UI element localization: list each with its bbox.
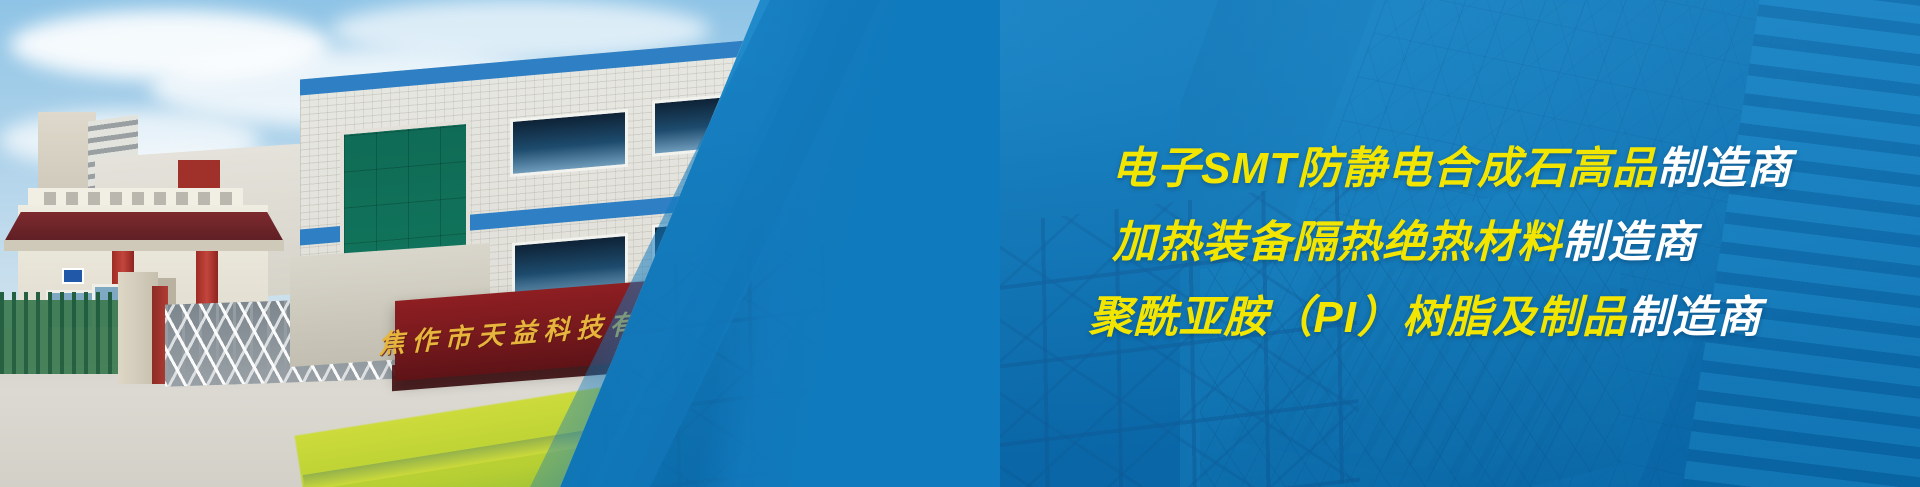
headline-line-3-suffix: 制造商 <box>1627 293 1762 342</box>
headline-group: 电子SMT防静电合成石高品制造商 加热装备隔热绝热材料制造商 聚酰亚胺（PI）树… <box>0 0 1920 487</box>
headline-line-2-highlight: 加热装备隔热绝热材料 <box>1112 218 1562 267</box>
headline-line-1-highlight: 电子SMT防静电合成石高品 <box>1111 144 1657 193</box>
headline-line-1: 电子SMT防静电合成石高品制造商 <box>1111 146 1792 192</box>
headline-line-3: 聚酰亚胺（PI）树脂及制品制造商 <box>1088 295 1762 341</box>
headline-line-1-suffix: 制造商 <box>1657 144 1792 193</box>
headline-line-2-suffix: 制造商 <box>1562 218 1697 267</box>
headline-line-3-highlight: 聚酰亚胺（PI）树脂及制品 <box>1088 293 1627 342</box>
company-hero-banner: 焦作市天益科技有限公司 电子SMT防静电合成石高品制造商 加热装备隔热绝热材料制… <box>0 0 1920 487</box>
headline-line-2: 加热装备隔热绝热材料制造商 <box>1112 220 1697 266</box>
